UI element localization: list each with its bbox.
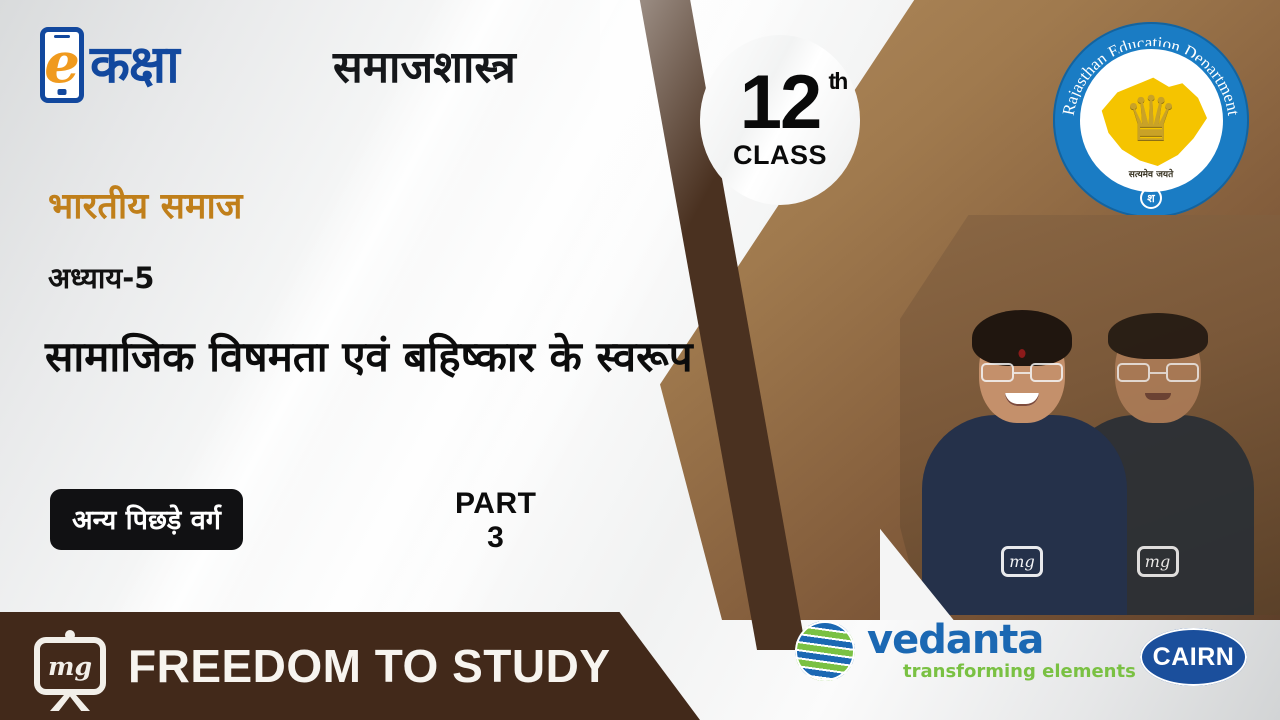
emblem-bottom-glyph: श	[1140, 187, 1162, 209]
part-number: 3	[455, 521, 536, 555]
class-badge: 12th CLASS	[700, 35, 860, 205]
part-indicator: PART 3	[455, 487, 536, 554]
female-glasses-icon	[981, 363, 1063, 382]
male-head	[1115, 319, 1201, 423]
ashoka-lion-capital-icon: ♛	[1123, 89, 1179, 151]
male-mouth	[1145, 393, 1171, 400]
vedanta-tagline: transforming elements	[903, 663, 1136, 681]
mg-shirt-badge-male: mg	[1137, 546, 1179, 577]
logo-e-letter: e	[44, 35, 80, 91]
vedanta-name: vedanta	[867, 620, 1136, 660]
female-torso: mg	[922, 415, 1127, 615]
vedanta-wordmark: vedanta transforming elements	[867, 620, 1136, 681]
instructor-female: mg	[922, 319, 1122, 615]
cairn-logo: CAIRN	[1140, 628, 1247, 686]
subject-title: समाजशास्त्र	[333, 40, 516, 95]
mg-board-icon: mg	[34, 637, 106, 695]
vedanta-globe-icon	[795, 621, 855, 681]
ekaksha-logo: e कक्षा	[40, 27, 179, 103]
emblem-inner-disc: ♛ सत्यमेव जयते	[1080, 49, 1223, 192]
emblem-motto: सत्यमेव जयते	[1080, 167, 1223, 180]
logo-kaksha-text: कक्षा	[90, 39, 179, 91]
vedanta-logo: vedanta transforming elements	[795, 620, 1136, 681]
class-number: 12th	[740, 69, 821, 137]
male-hair	[1108, 313, 1208, 359]
footer-bar: mg FREEDOM TO STUDY	[0, 612, 700, 720]
male-glasses-icon	[1117, 363, 1199, 382]
instructors-photo: mg mg	[900, 215, 1280, 615]
part-label: PART	[455, 487, 536, 521]
class-number-value: 12	[740, 60, 821, 145]
mg-shirt-badge-female: mg	[1001, 546, 1043, 577]
topic-title: सामाजिक विषमता एवं बहिष्कार के स्वरूप	[45, 330, 835, 384]
book-title: भारतीय समाज	[48, 180, 243, 229]
rajasthan-education-department-emblem: Rajasthan Education Department ♛ सत्यमेव…	[1053, 22, 1249, 218]
phone-icon: e	[40, 27, 84, 103]
female-head	[979, 319, 1065, 423]
class-ordinal: th	[829, 71, 847, 92]
subtopic-badge: अन्य पिछड़े वर्ग	[50, 489, 243, 550]
footer-tagline: FREEDOM TO STUDY	[128, 639, 611, 693]
chapter-label: अध्याय-5	[48, 258, 154, 297]
female-mouth	[1005, 393, 1039, 406]
video-title-slide: e कक्षा समाजशास्त्र 12th CLASS Rajasthan…	[0, 0, 1280, 720]
bindi-icon	[1019, 349, 1026, 358]
